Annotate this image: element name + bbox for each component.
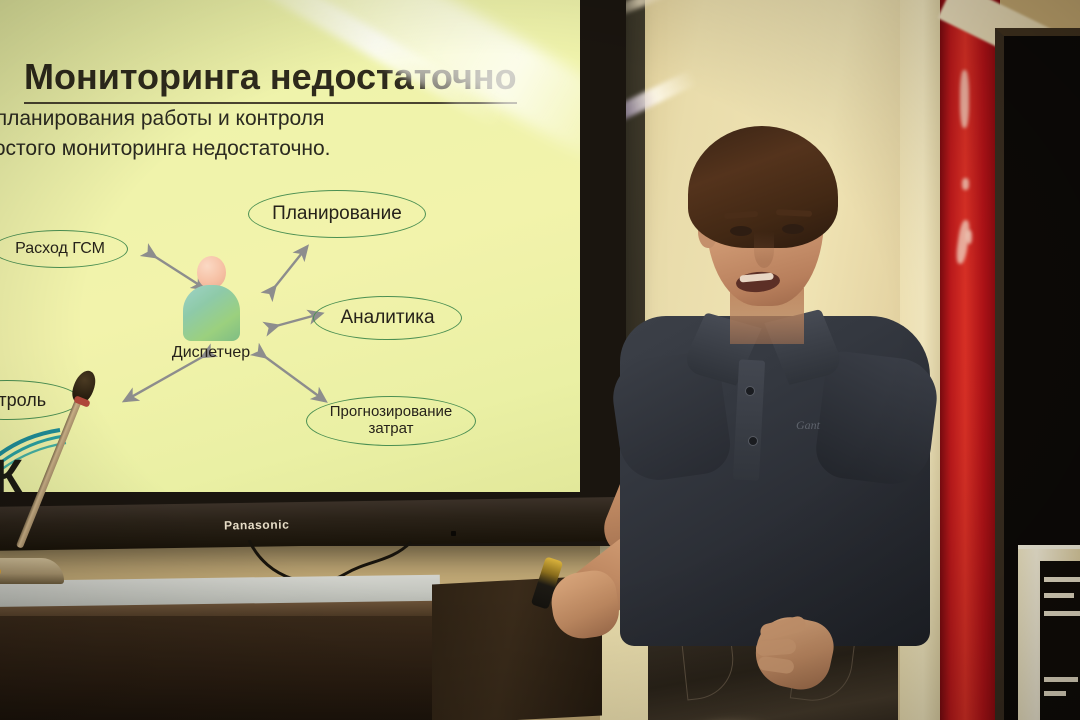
column-highlight (962, 178, 969, 190)
slide-title: Мониторинга недостаточно (24, 56, 517, 104)
fixture-inner (1040, 561, 1080, 720)
person-icon (180, 256, 242, 344)
presenter-left-hand (548, 568, 623, 643)
microphone-indicator (0, 568, 1, 575)
slide-body-line-1: для планирования работы и контроля (0, 104, 331, 134)
arrow-forecast-to-dispatcher (264, 356, 324, 400)
arrow-control-to-dispatcher (126, 356, 204, 400)
presenter-eye (730, 226, 752, 236)
diagram-node-prognozirovanie: Прогнозирование затрат (306, 396, 476, 446)
slide-body-line-2: ч простого мониторинга недостаточно. (0, 134, 331, 164)
column-highlight (960, 70, 969, 128)
power-led-icon (451, 531, 456, 536)
fixture-bar (1044, 593, 1074, 598)
presenter-teeth (739, 273, 773, 283)
fixture-bar (1044, 611, 1080, 616)
jeans-fade (661, 714, 773, 720)
display-cable (245, 540, 415, 580)
presenter-hair (688, 126, 838, 248)
presenter-finger (756, 639, 797, 657)
polo-button (745, 386, 755, 396)
logo-text: СК (0, 450, 22, 492)
column-highlight (966, 230, 972, 244)
fixture-bar (1044, 677, 1078, 682)
white-framed-fixture (1018, 545, 1080, 720)
fixture-bar (1044, 691, 1066, 696)
display-brand-label: Panasonic (224, 517, 290, 532)
dispatcher-label: Диспетчер (151, 344, 271, 362)
podium-front-panel (0, 616, 440, 720)
presenter-eye (782, 224, 804, 234)
presenter: Gant (520, 120, 960, 720)
arrow-plan-to-dispatcher (274, 248, 306, 288)
diagram-node-analitika: Аналитика (313, 296, 462, 340)
diagram-node-planirovanie: Планирование (248, 190, 426, 238)
shirt-chest-logo: Gant (796, 418, 850, 432)
polo-button (748, 436, 758, 446)
microphone-base (0, 558, 64, 584)
slide-body: для планирования работы и контроля ч про… (0, 104, 331, 165)
gooseneck-microphone (60, 370, 130, 560)
fixture-bar (1044, 577, 1080, 582)
presenter-nose (754, 232, 774, 268)
person-icon-body (183, 285, 240, 341)
presentation-photo-scene: Мониторинга недостаточно для планировани… (0, 0, 1080, 720)
